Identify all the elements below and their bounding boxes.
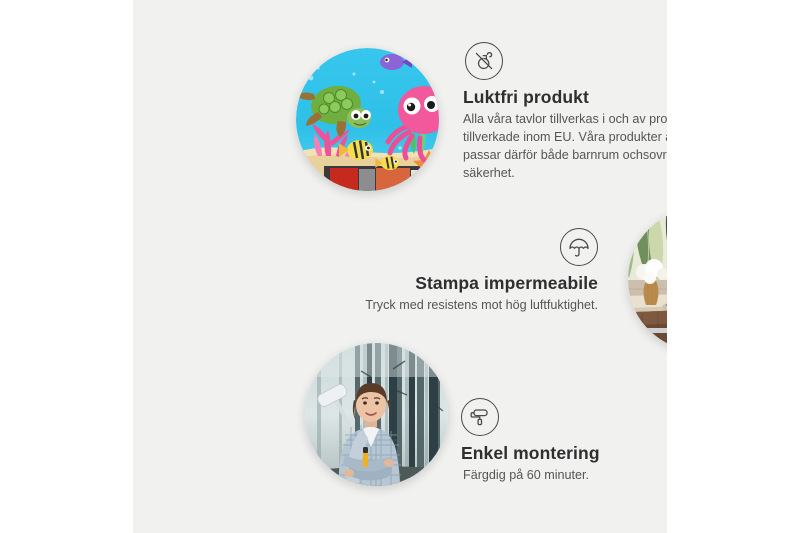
underwater-cartoon-wallpaper-photo [296, 48, 439, 191]
feature-waterproof: Stampa impermeabile Tryck med resistens … [323, 228, 598, 315]
feature-easy-mount: Enkel montering Färgdig på 60 minuter. [461, 398, 667, 485]
feature-body: Alla våra tavlor tillverkas i och av pro… [463, 111, 667, 183]
bathroom-tropical-wallpaper-photo [628, 208, 667, 351]
feature-title: Stampa impermeabile [323, 273, 598, 293]
umbrella-icon [560, 228, 598, 266]
icon-row [463, 42, 667, 80]
feature-odourless: Luktfri produkt Alla våra tavlor tillver… [463, 42, 667, 183]
feature-body: Tryck med resistens mot hög luftfuktighe… [323, 297, 598, 315]
content-panel: Luktfri produkt Alla våra tavlor tillver… [133, 0, 667, 533]
no-odour-perfume-icon [465, 42, 503, 80]
feature-title: Enkel montering [461, 443, 667, 463]
feature-body: Färgdig på 60 minuter. [463, 467, 667, 485]
paint-roller-icon [461, 398, 499, 436]
icon-row [323, 228, 598, 266]
icon-row [461, 398, 667, 436]
feature-title: Luktfri produkt [463, 87, 667, 107]
decorator-forest-wallpaper-photo [305, 343, 448, 486]
promo-banner: Luktfri produkt Alla våra tavlor tillver… [0, 0, 800, 533]
